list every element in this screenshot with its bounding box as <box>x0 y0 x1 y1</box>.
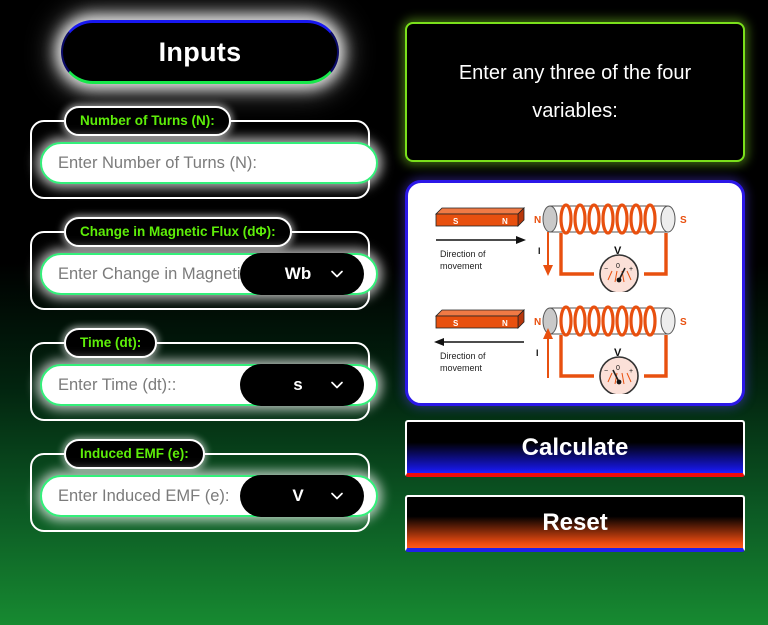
field-row-flux: Wb <box>42 253 358 299</box>
movement-caption-bottom-1: Direction of <box>440 351 486 361</box>
magnet-top-south: S <box>453 217 459 226</box>
voltmeter-top-plus: + <box>629 266 633 273</box>
field-legend-emf: Induced EMF (e): <box>64 439 205 469</box>
voltmeter-bottom-zero: 0 <box>616 365 620 372</box>
voltmeter-top-label: V <box>614 245 622 257</box>
faraday-diagram-bottom: S N Direction of movement <box>418 294 738 394</box>
coil-top-right-pole: S <box>680 215 687 226</box>
output-panel: Enter any three of the four variables: S… <box>400 0 768 625</box>
field-label-flux: Change in Magnetic Flux (dΦ): <box>64 217 292 247</box>
time-unit-select[interactable]: s <box>240 364 364 406</box>
current-arrow-bottom-icon <box>543 328 553 378</box>
voltmeter-bottom: 0 − + <box>600 357 638 394</box>
magnet-bottom: S N <box>436 310 524 328</box>
coil-top <box>543 205 675 233</box>
coil-top-left-pole: N <box>534 215 541 226</box>
field-group-turns: Number of Turns (N): <box>30 106 370 199</box>
reset-button-label: Reset <box>542 509 607 537</box>
voltmeter-top: 0 − + <box>600 255 638 292</box>
calculate-button-label: Calculate <box>522 434 629 462</box>
field-row-emf: V <box>42 475 358 521</box>
instruction-box: Enter any three of the four variables: <box>405 22 745 162</box>
field-legend-time: Time (dt): <box>64 328 157 358</box>
flux-unit-select[interactable]: Wb <box>240 253 364 295</box>
chevron-down-icon <box>330 378 344 392</box>
inputs-panel: Inputs Number of Turns (N): Change in Ma… <box>0 0 400 625</box>
turns-input[interactable] <box>40 142 378 184</box>
voltmeter-top-zero: 0 <box>616 263 620 270</box>
field-legend-turns: Number of Turns (N): <box>64 106 231 136</box>
magnet-bottom-north: N <box>502 319 508 328</box>
movement-caption-top-1: Direction of <box>440 249 486 259</box>
reset-button[interactable]: Reset <box>405 495 745 552</box>
magnet-top-north: N <box>502 217 508 226</box>
panel-title-text: Inputs <box>159 37 242 68</box>
instruction-text: Enter any three of the four variables: <box>425 54 725 130</box>
current-label-bottom: I <box>536 348 539 358</box>
panel-title: Inputs <box>61 20 339 84</box>
field-group-flux: Change in Magnetic Flux (dΦ): Wb <box>30 217 370 310</box>
coil-bottom <box>543 307 675 335</box>
field-group-time: Time (dt): s <box>30 328 370 421</box>
voltmeter-bottom-label: V <box>614 347 622 359</box>
field-label-emf: Induced EMF (e): <box>64 439 205 469</box>
field-row-turns <box>42 142 358 188</box>
coil-bottom-left-pole: N <box>534 317 541 328</box>
magnet-top: S N <box>436 208 524 226</box>
app-root: Inputs Number of Turns (N): Change in Ma… <box>0 0 768 625</box>
chevron-down-icon <box>330 489 344 503</box>
voltmeter-bottom-plus: + <box>629 368 633 375</box>
magnet-bottom-south: S <box>453 319 459 328</box>
emf-unit-select[interactable]: V <box>240 475 364 517</box>
voltmeter-top-minus: − <box>604 266 608 273</box>
field-label-turns: Number of Turns (N): <box>64 106 231 136</box>
movement-caption-top-2: movement <box>440 261 483 271</box>
field-group-emf: Induced EMF (e): V <box>30 439 370 532</box>
field-label-time: Time (dt): <box>64 328 157 358</box>
direction-arrow-bottom-icon <box>434 338 524 346</box>
movement-caption-bottom-2: movement <box>440 363 483 373</box>
time-unit-label: s <box>293 375 302 395</box>
direction-arrow-top-icon <box>436 236 526 244</box>
voltmeter-bottom-minus: − <box>604 368 608 375</box>
chevron-down-icon <box>330 267 344 281</box>
field-row-time: s <box>42 364 358 410</box>
flux-unit-label: Wb <box>285 264 311 284</box>
coil-bottom-right-pole: S <box>680 317 687 328</box>
emf-unit-label: V <box>292 486 303 506</box>
field-legend-flux: Change in Magnetic Flux (dΦ): <box>64 217 292 247</box>
current-arrow-top-icon <box>543 232 553 276</box>
faraday-diagram-top: S N Direction of movement <box>418 192 738 292</box>
calculate-button[interactable]: Calculate <box>405 420 745 477</box>
current-label-top: I <box>538 246 541 256</box>
faraday-diagram-card: S N Direction of movement <box>405 180 745 406</box>
